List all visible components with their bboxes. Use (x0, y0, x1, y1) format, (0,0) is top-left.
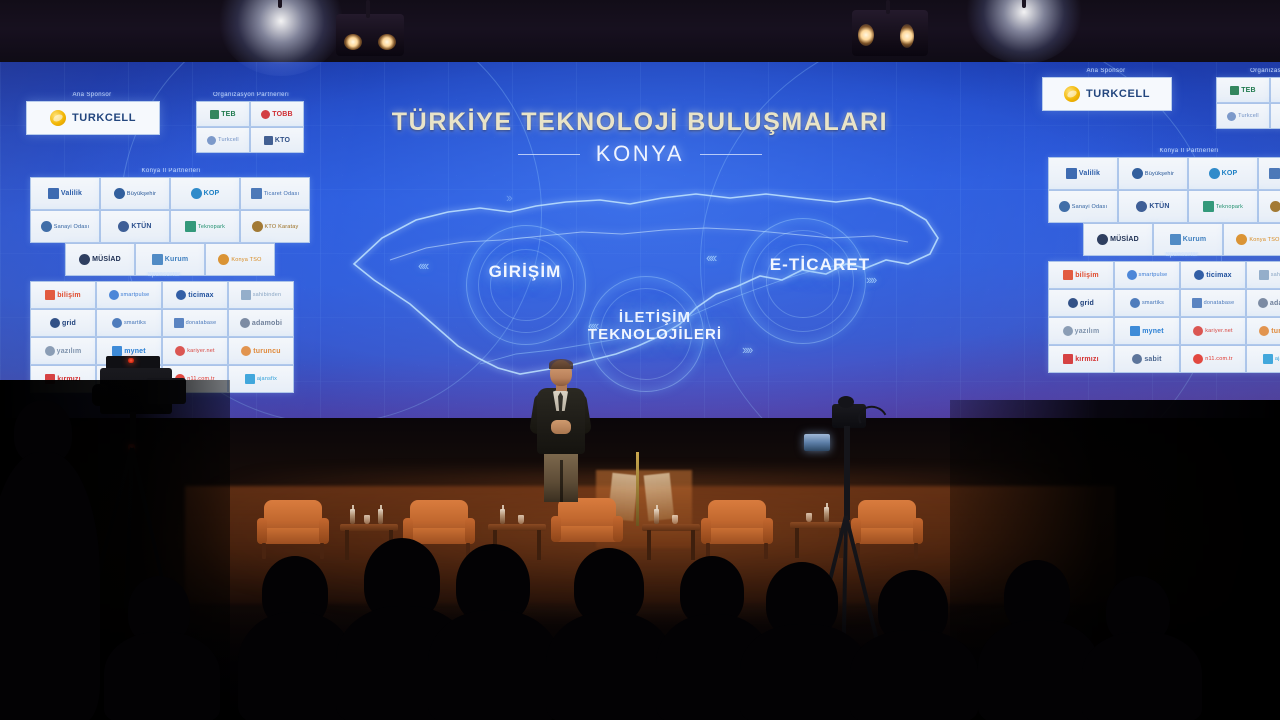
musiad-logo: MÜSİAD (1097, 234, 1139, 245)
seal-logo-logo: KTO (264, 136, 290, 145)
konya-valilik-label: Valilik (61, 190, 82, 197)
sponsor-ajansfix-logo: ajansfix (1263, 354, 1280, 364)
teknopark-logo: Teknopark (1203, 201, 1243, 212)
kop-idaresi-mark-icon (191, 188, 202, 199)
logo-cell-sponsor-adamobi: adamobi (228, 309, 294, 337)
logo-cell-sponsor-ticimax: ticimax (1180, 261, 1246, 289)
teknopark-mark-icon (185, 221, 196, 232)
slide-subtitle: KONYA (596, 141, 684, 167)
organizasyon-caption-right: Organizasyon (1216, 68, 1280, 74)
lamp-bulb (378, 34, 396, 50)
kto-karatay-logo: KTO Karatay (1270, 201, 1280, 212)
logo-cell-sponsor-kirmizi: kırmızı (1048, 345, 1114, 373)
ktun-universite-mark-icon (118, 221, 129, 232)
sponsor-bilisim-label: bilişim (1075, 272, 1099, 279)
logo-cell-teknopark: Teknopark (1188, 190, 1258, 223)
sponsor-yazilim-mark-icon (1063, 326, 1073, 336)
armchair-seat (552, 526, 622, 542)
sponsor-n11-logo: n11.com.tr (1193, 354, 1233, 364)
musiad-mark-icon (79, 254, 90, 265)
logo-cell-sponsor-ticimax: ticimax (162, 281, 228, 309)
logo-cell-konya-valilik: Valilik (1048, 157, 1118, 190)
logo-cell-konya-sanayi: Sanayi Odası (1048, 190, 1118, 223)
konya-ticaret-mark-icon (1269, 168, 1280, 179)
side-table-leg (647, 530, 651, 560)
sponsor-mavi-grid-mark-icon (50, 318, 60, 328)
turkcell-partner-mark-icon (207, 136, 216, 145)
left-main-sponsor-panel: Ana Sponsor TURKCELL (26, 92, 158, 135)
ktun-universite-logo: KTÜN (118, 221, 151, 232)
side-table-leg (691, 530, 695, 560)
armchair-seat (258, 528, 328, 544)
logo-cell-sponsor-donatabase: donatabase (1180, 289, 1246, 317)
armchair-leg (320, 543, 324, 559)
sponsor-sabit-mark-icon (1132, 354, 1142, 364)
armchair-arm (465, 518, 475, 544)
konya-sanayi-label: Sanayi Odası (1072, 204, 1107, 210)
teknopark-label: Teknopark (198, 224, 225, 230)
logo-cell-sponsor-smartpulse: smartpulse (1114, 261, 1180, 289)
node-label-girisim: GİRİŞİM (455, 262, 595, 281)
water-bottle (350, 509, 355, 524)
kto-karatay-mark-icon (1270, 201, 1280, 212)
sponsor-mavi-grid-logo: grid (1068, 298, 1094, 308)
armchair-arm (613, 516, 623, 542)
konya-buyuksehir-label: Büyükşehir (1145, 171, 1174, 177)
sponsor-smartpulse-mark-icon (109, 290, 119, 300)
sponsor-kariyernet-mark-icon (1193, 326, 1203, 336)
sponsor-donatabase-mark-icon (174, 318, 184, 328)
side-table-leg (537, 530, 541, 560)
sponsor-donatabase-label: donatabase (186, 320, 217, 326)
logo-cell-sponsor-sahibinden: sahibinden (228, 281, 294, 309)
speaker-clasped-hands (551, 420, 571, 434)
node-label-line2: TEKNOLOJİLERİ (588, 326, 722, 343)
lamp-bulb (858, 24, 874, 46)
sponsor-kariyernet-label: kariyer.net (187, 348, 215, 354)
sponsor-smartiks-mark-icon (112, 318, 122, 328)
sponsor-bilisim-logo: bilişim (45, 290, 81, 300)
logo-cell-sponsor-ajansfix: ajansfix (1246, 345, 1280, 373)
turkcell-swirl-icon-right (1064, 86, 1080, 102)
armchair-seat (702, 528, 772, 544)
chevron-arrows: ›››› (742, 342, 751, 357)
sponsor-mynet-label: mynet (124, 348, 146, 355)
sponsor-yazilim-label: yazılım (57, 348, 82, 355)
konya-sanayi-logo: Sanayi Odası (41, 221, 89, 232)
sponsor-sahibinden-mark-icon (1259, 270, 1269, 280)
konya-sanayi-label: Sanayi Odası (54, 224, 89, 230)
drinking-glass (806, 513, 812, 522)
sponsor-turuncu-label: turuncu (1271, 328, 1280, 335)
logo-cell-sponsor-ajansfix: ajansfix (228, 365, 294, 393)
sponsor-kirmizi-label: kırmızı (1075, 356, 1099, 363)
logo-cell-konya-ticaret: Ticaret Odası (240, 177, 310, 210)
logo-cell-tobb-teknoloji: TEB (1216, 77, 1270, 103)
tripod-column (844, 426, 850, 520)
turkcell-wordmark: TURKCELL (72, 112, 136, 124)
armchair-arm (257, 518, 267, 544)
sponsor-smartiks-logo: smartiks (112, 318, 146, 328)
ktb-kurum-logo: Kurum (152, 254, 189, 265)
sponsor-turuncu-mark-icon (241, 346, 251, 356)
konya-tso-mark-icon (218, 254, 229, 265)
logo-cell-sponsor-n11: n11.com.tr (1180, 345, 1246, 373)
logo-cell-konya-buyuksehir: Büyükşehir (100, 177, 170, 210)
sponsor-ticimax-mark-icon (1194, 270, 1204, 280)
konya-sanayi-logo: Sanayi Odası (1059, 201, 1107, 212)
ktun-universite-label: KTÜN (131, 223, 151, 230)
konya-tso-logo: Konya TSO (218, 254, 261, 265)
water-bottle (378, 509, 383, 524)
sponsor-donatabase-logo: donatabase (174, 318, 217, 328)
sponsor-kariyernet-mark-icon (175, 346, 185, 356)
logo-cell-tobb-red: TOBB (1270, 77, 1280, 103)
sponsor-ajansfix-label: ajansfix (1275, 356, 1280, 362)
sponsor-mynet-mark-icon (112, 346, 122, 356)
logo-cell-sponsor-smartiks: smartiks (1114, 289, 1180, 317)
sponsor-logo-grid-right: bilişimsmartpulseticimaxsahibindengridsm… (1048, 261, 1280, 373)
turkcell-swirl-icon (50, 110, 66, 126)
turkcell-logo-box: TURKCELL (26, 101, 160, 135)
sponsor-yazilim-logo: yazılım (1063, 326, 1100, 336)
kop-idaresi-label: KOP (204, 190, 220, 197)
drinking-glass (364, 515, 370, 524)
drinking-glass (672, 515, 678, 524)
tobb-red-logo: TOBB (261, 110, 293, 119)
light-stem (366, 0, 370, 18)
logo-cell-kop-idaresi: KOP (1188, 157, 1258, 190)
turkcell-wordmark-right: TURKCELL (1086, 88, 1150, 100)
sponsor-yazilim-mark-icon (45, 346, 55, 356)
kop-idaresi-logo: KOP (1209, 168, 1238, 179)
audience-shoulders (104, 632, 220, 720)
sponsor-adamobi-logo: adamobi (1258, 298, 1280, 308)
konya-il-partnerleri-caption-right: Konya İl Partnerleri (1048, 148, 1280, 154)
sponsor-ticimax-label: ticimax (1206, 272, 1232, 279)
logo-cell-sponsor-donatabase: donatabase (162, 309, 228, 337)
sponsor-mavi-grid-logo: grid (50, 318, 76, 328)
water-bottle (500, 509, 505, 524)
conference-stage-photo: TÜRKİYE TEKNOLOJİ BULUŞMALARI KONYA ‹‹‹‹… (0, 0, 1280, 720)
musiad-label: MÜSİAD (1110, 236, 1139, 243)
armchair-arm (701, 518, 711, 544)
sponsorlar-caption-right: Sponsorlar (1048, 252, 1280, 258)
tobb-teknoloji-label: TEB (221, 111, 236, 118)
logo-cell-sponsor-mavi-grid: grid (30, 309, 96, 337)
sponsor-mynet-logo: mynet (1130, 326, 1164, 336)
right-organizers-panel: Organizasyon TEBTOBBTurkcellKTO (1216, 68, 1280, 129)
node-label-line1: İLETİŞİM (619, 309, 691, 326)
konya-valilik-mark-icon (1066, 168, 1077, 179)
logo-cell-sponsor-kariyernet: kariyer.net (1180, 317, 1246, 345)
logo-cell-sponsor-smartiks: smartiks (96, 309, 162, 337)
konya-valilik-logo: Valilik (1066, 168, 1100, 179)
chevron-arrows: ‹‹‹‹ (418, 258, 427, 273)
slide-title: TÜRKİYE TEKNOLOJİ BULUŞMALARI (0, 108, 1280, 137)
speaker-on-stage (520, 360, 600, 500)
logo-cell-konya-buyuksehir: Büyükşehir (1118, 157, 1188, 190)
konya-tso-mark-icon (1236, 234, 1247, 245)
ktb-kurum-logo: Kurum (1170, 234, 1207, 245)
seal-logo-mark-icon (264, 136, 273, 145)
turkcell-partner-logo: Turkcell (207, 136, 239, 145)
tobb-teknoloji-mark-icon (210, 110, 219, 119)
konya-valilik-mark-icon (48, 188, 59, 199)
sponsor-yazilim-label: yazılım (1075, 328, 1100, 335)
sponsor-smartiks-label: smartiks (124, 320, 146, 326)
logo-cell-sponsor-mynet: mynet (1114, 317, 1180, 345)
logo-cell-sponsor-turuncu: turuncu (228, 337, 294, 365)
right-main-sponsor-panel: Ana Sponsor TURKCELL (1042, 68, 1170, 111)
logo-cell-sponsor-bilisim: bilişim (30, 281, 96, 309)
side-table-leg (345, 530, 349, 560)
light-stem (278, 0, 282, 8)
right-city-partners-panel: Konya İl Partnerleri ValilikBüyükşehirKO… (1048, 148, 1280, 256)
sponsor-ticimax-label: ticimax (188, 292, 214, 299)
tobb-teknoloji-logo: TEB (1230, 86, 1256, 95)
sponsor-donatabase-label: donatabase (1204, 300, 1235, 306)
sponsor-ajansfix-mark-icon (1263, 354, 1273, 364)
sponsor-adamobi-mark-icon (240, 318, 250, 328)
sponsor-kariyernet-logo: kariyer.net (1193, 326, 1233, 336)
sponsor-mynet-label: mynet (1142, 328, 1164, 335)
armchair-arm (763, 518, 773, 544)
logo-cell-teknopark: Teknopark (170, 210, 240, 243)
logo-cell-sponsor-sabit: sabit (1114, 345, 1180, 373)
subtitle-rule-left (518, 154, 580, 155)
sponsor-sabit-logo: sabit (1132, 354, 1161, 364)
node-label-iletisim-teknolojileri: İLETİŞİM TEKNOLOJİLERİ (560, 310, 750, 344)
ktb-kurum-label: Kurum (165, 256, 189, 263)
ana-sponsor-caption: Ana Sponsor (26, 92, 158, 98)
logo-cell-ktun-universite: KTÜN (100, 210, 170, 243)
logo-cell-sponsor-sahibinden: sahibinden (1246, 261, 1280, 289)
sponsor-smartpulse-mark-icon (1127, 270, 1137, 280)
konya-tso-label: Konya TSO (231, 257, 261, 263)
sponsor-ajansfix-logo: ajansfix (245, 374, 277, 384)
sponsor-bilisim-mark-icon (1063, 270, 1073, 280)
konya-buyuksehir-mark-icon (1132, 168, 1143, 179)
side-table-leg (795, 528, 799, 558)
kto-karatay-label: KTO Karatay (265, 224, 299, 230)
sponsor-smartpulse-logo: smartpulse (1127, 270, 1168, 280)
camera-monitor-screen (804, 434, 830, 451)
chevron-arrows: ‹‹‹‹ (706, 250, 715, 265)
musiad-label: MÜSİAD (92, 256, 121, 263)
sponsor-mavi-grid-mark-icon (1068, 298, 1078, 308)
audience-shoulders (850, 630, 978, 720)
logo-cell-sponsor-turuncu: turuncu (1246, 317, 1280, 345)
camera-lens (838, 396, 854, 408)
drinking-glass (518, 515, 524, 524)
logo-cell-tobb-teknoloji: TEB (196, 101, 250, 127)
tobb-teknoloji-mark-icon (1230, 86, 1239, 95)
water-bottle (654, 509, 659, 524)
city-partner-logo-grid: ValilikBüyükşehirKOPTicaret OdasıSanayi … (30, 177, 312, 276)
audience-shoulders (1082, 632, 1202, 720)
turkcell-partner-logo: Turkcell (1227, 112, 1259, 121)
audience-shoulders (740, 624, 868, 720)
sponsor-kirmizi-logo: kırmızı (1063, 354, 1099, 364)
chevron-arrows: ›› (506, 190, 511, 205)
logo-cell-konya-ticaret: Ticaret Odası (1258, 157, 1280, 190)
lamp-bulb (900, 24, 914, 48)
armchair-leg (262, 543, 266, 559)
sponsor-smartpulse-label: smartpulse (1139, 272, 1168, 278)
sponsor-bilisim-logo: bilişim (1063, 270, 1099, 280)
turkcell-partner-label: Turkcell (1238, 113, 1259, 119)
logo-cell-sponsor-mavi-grid: grid (1048, 289, 1114, 317)
teknopark-label: Teknopark (1216, 204, 1243, 210)
side-table (642, 524, 700, 562)
logo-cell-sponsor-adamobi: adamobi (1246, 289, 1280, 317)
sponsor-adamobi-logo: adamobi (240, 318, 282, 328)
lamp-bulb (344, 34, 362, 50)
organizer-logo-grid-right: TEBTOBBTurkcellKTO (1216, 77, 1280, 129)
konya-ticaret-logo: Ticaret Odası (1269, 168, 1280, 179)
speaker-leg-split (560, 460, 563, 502)
sponsor-turuncu-mark-icon (1259, 326, 1269, 336)
organizer-logo-grid: TEBTOBBTurkcellKTO (196, 101, 306, 153)
sponsor-turuncu-logo: turuncu (241, 346, 280, 356)
konya-il-partnerleri-caption: Konya İl Partnerleri (30, 168, 312, 174)
armchair (702, 500, 772, 560)
logo-cell-konya-sanayi: Sanayi Odası (30, 210, 100, 243)
flag (644, 473, 675, 521)
sponsor-ticimax-logo: ticimax (1194, 270, 1232, 280)
logo-cell-sponsor-yazilim: yazılım (1048, 317, 1114, 345)
sponsor-turuncu-label: turuncu (253, 348, 280, 355)
sponsor-smartiks-logo: smartiks (1130, 298, 1164, 308)
tobb-teknoloji-logo: TEB (210, 110, 236, 119)
organizasyon-partnerleri-caption: Organizasyon Partnerleri (196, 92, 306, 98)
ktun-universite-label: KTÜN (1149, 203, 1169, 210)
sponsor-adamobi-mark-icon (1258, 298, 1268, 308)
sponsor-ajansfix-mark-icon (245, 374, 255, 384)
node-ring-girisim-inner (490, 249, 562, 321)
konya-buyuksehir-label: Büyükşehir (127, 191, 156, 197)
logo-cell-turkcell-partner: Turkcell (196, 127, 250, 153)
sponsor-yazilim-logo: yazılım (45, 346, 82, 356)
logo-cell-sponsor-yazilim: yazılım (30, 337, 96, 365)
sponsor-sahibinden-logo: sahibinden (1259, 270, 1280, 280)
sponsor-adamobi-label: adamobi (252, 320, 282, 327)
kop-idaresi-label: KOP (1222, 170, 1238, 177)
konya-sanayi-mark-icon (41, 221, 52, 232)
logo-cell-konya-valilik: Valilik (30, 177, 100, 210)
tobb-red-mark-icon (261, 110, 270, 119)
sponsor-ticimax-logo: ticimax (176, 290, 214, 300)
seal-logo-label: KTO (275, 137, 290, 144)
konya-buyuksehir-logo: Büyükşehir (1132, 168, 1174, 179)
sponsor-bilisim-mark-icon (45, 290, 55, 300)
city-partner-logo-grid-right: ValilikBüyükşehirKOPTicaret OdasıSanayi … (1048, 157, 1280, 256)
sponsorlar-caption: Sponsorlar (30, 272, 298, 278)
teknopark-mark-icon (1203, 201, 1214, 212)
teknopark-logo: Teknopark (185, 221, 225, 232)
left-city-partners-panel: Konya İl Partnerleri ValilikBüyükşehirKO… (30, 168, 312, 276)
audience-shoulders (546, 612, 674, 720)
logo-cell-tobb-red: TOBB (250, 101, 304, 127)
subtitle-rule-right (700, 154, 762, 155)
audience-shoulders (0, 452, 100, 720)
sponsor-n11-mark-icon (1193, 354, 1203, 364)
sponsor-n11-label: n11.com.tr (1205, 356, 1233, 362)
sponsor-turuncu-logo: turuncu (1259, 326, 1280, 336)
kto-karatay-mark-icon (252, 221, 263, 232)
light-stem (886, 0, 890, 14)
armchair (258, 500, 328, 560)
sponsor-smartiks-label: smartiks (1142, 300, 1164, 306)
ktb-kurum-mark-icon (152, 254, 163, 265)
armchair-arm (319, 518, 329, 544)
sponsor-ajansfix-label: ajansfix (257, 376, 277, 382)
konya-valilik-label: Valilik (1079, 170, 1100, 177)
sponsor-sabit-label: sabit (1144, 356, 1161, 363)
musiad-logo: MÜSİAD (79, 254, 121, 265)
konya-ticaret-logo: Ticaret Odası (251, 188, 299, 199)
turkcell-logo-box-right: TURKCELL (1042, 77, 1172, 111)
logo-cell-seal-logo: KTO (1270, 103, 1280, 129)
tobb-red-label: TOBB (272, 111, 293, 118)
konya-tso-label: Konya TSO (1249, 237, 1279, 243)
logo-cell-sponsor-bilisim: bilişim (1048, 261, 1114, 289)
logo-cell-seal-logo: KTO (250, 127, 304, 153)
sponsor-mynet-logo: mynet (112, 346, 146, 356)
camera-tally-light (128, 358, 134, 363)
tobb-teknoloji-label: TEB (1241, 87, 1256, 94)
ktb-kurum-mark-icon (1170, 234, 1181, 245)
sponsor-smartpulse-label: smartpulse (121, 292, 150, 298)
sponsor-ticimax-mark-icon (176, 290, 186, 300)
sponsor-donatabase-mark-icon (1192, 298, 1202, 308)
sponsor-kariyernet-label: kariyer.net (1205, 328, 1233, 334)
konya-buyuksehir-mark-icon (114, 188, 125, 199)
sponsor-bilisim-label: bilişim (57, 292, 81, 299)
konya-sanayi-mark-icon (1059, 201, 1070, 212)
turkcell-partner-mark-icon (1227, 112, 1236, 121)
sponsor-sahibinden-label: sahibinden (1271, 272, 1280, 278)
kop-idaresi-logo: KOP (191, 188, 220, 199)
sponsor-smartpulse-logo: smartpulse (109, 290, 150, 300)
sponsor-sahibinden-mark-icon (241, 290, 251, 300)
sponsor-sahibinden-logo: sahibinden (241, 290, 282, 300)
node-label-eticaret: E-TİCARET (740, 255, 900, 274)
armchair-leg (764, 543, 768, 559)
right-sponsors-panel: Sponsorlar bilişimsmartpulseticimaxsahib… (1048, 252, 1280, 373)
speaker-hair (549, 359, 573, 369)
konya-ticaret-mark-icon (251, 188, 262, 199)
ktb-kurum-label: Kurum (1183, 236, 1207, 243)
sponsor-kirmizi-mark-icon (1063, 354, 1073, 364)
konya-valilik-logo: Valilik (48, 188, 82, 199)
logo-cell-kto-karatay: KTO Karatay (240, 210, 310, 243)
sponsor-adamobi-label: adamobi (1270, 300, 1280, 307)
light-stem (1022, 0, 1026, 8)
ktun-universite-mark-icon (1136, 201, 1147, 212)
ktun-universite-logo: KTÜN (1136, 201, 1169, 212)
ana-sponsor-caption-right: Ana Sponsor (1042, 68, 1170, 74)
konya-buyuksehir-logo: Büyükşehir (114, 188, 156, 199)
sponsor-mavi-grid-label: grid (1080, 300, 1094, 307)
logo-cell-sponsor-smartpulse: smartpulse (96, 281, 162, 309)
armchair-arm (551, 516, 561, 542)
turkcell-partner-label: Turkcell (218, 137, 239, 143)
sponsor-mynet-mark-icon (1130, 326, 1140, 336)
logo-cell-kto-karatay: KTO Karatay (1258, 190, 1280, 223)
logo-cell-ktun-universite: KTÜN (1118, 190, 1188, 223)
